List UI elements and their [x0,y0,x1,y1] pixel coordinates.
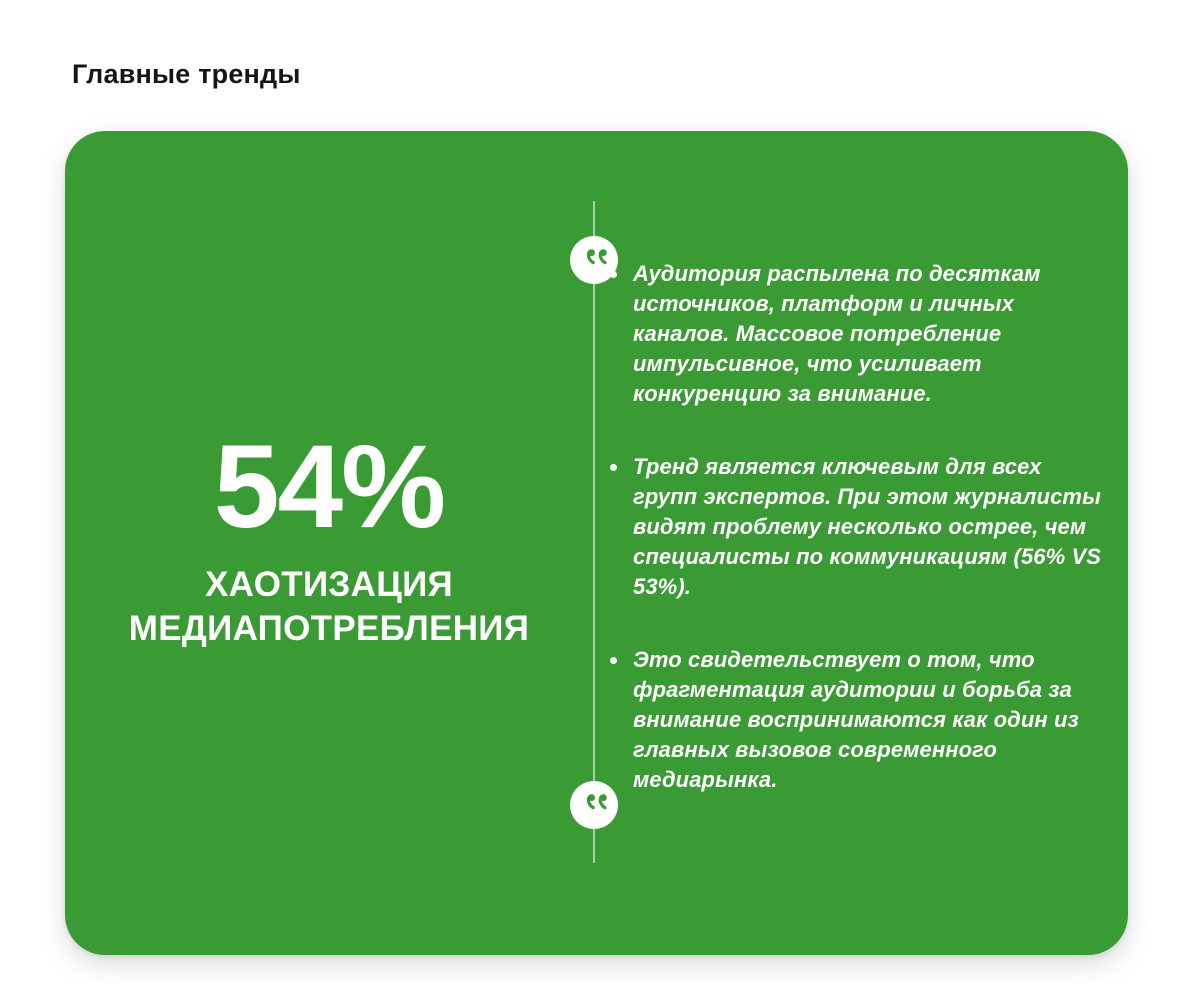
page-title: Главные тренды [72,56,301,92]
quote-mark-icon-top [570,236,618,284]
list-item: Аудитория распылена по десяткам источник… [605,259,1105,409]
stat-block: 54% ХАОТИЗАЦИЯ МЕДИАПОТРЕБЛЕНИЯ [65,131,593,955]
trend-bullet-list: Аудитория распылена по десяткам источник… [605,259,1105,795]
trend-card: 54% ХАОТИЗАЦИЯ МЕДИАПОТРЕБЛЕНИЯ Аудитори… [65,131,1128,955]
slide-root: Главные тренды 54% ХАОТИЗАЦИЯ МЕДИАПОТРЕ… [0,0,1200,984]
list-item: Это свидетельствует о том, что фрагмента… [605,645,1105,795]
stat-value: 54% [214,427,444,547]
quote-mark-icon-bottom [570,781,618,829]
list-item: Тренд является ключевым для всех групп э… [605,452,1105,602]
vertical-divider [593,201,595,863]
stat-label: ХАОТИЗАЦИЯ МЕДИАПОТРЕБЛЕНИЯ [74,563,584,651]
